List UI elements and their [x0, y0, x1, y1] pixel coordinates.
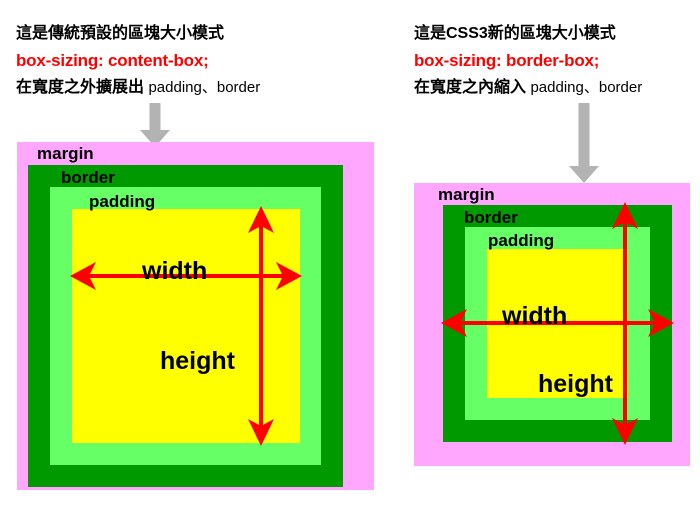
margin-label: margin — [37, 144, 94, 164]
caption-left-line-3-prefix: 在寬度之外擴展出 — [16, 79, 144, 96]
height-label: height — [160, 347, 235, 375]
margin-label: margin — [438, 185, 495, 205]
caption-border-box: 這是CSS3新的區塊大小模式 box-sizing: border-box; 在… — [414, 20, 642, 101]
caption-right-line-1: 這是CSS3新的區塊大小模式 — [414, 20, 642, 47]
width-label: width — [142, 257, 207, 285]
caption-right-line-3: 在寬度之內縮入 padding、border — [414, 74, 642, 101]
content-layer — [72, 209, 300, 443]
caption-left-line-1: 這是傳統預設的區塊大小模式 — [16, 20, 260, 47]
padding-label: padding — [89, 192, 155, 212]
caption-content-box: 這是傳統預設的區塊大小模式 box-sizing: content-box; 在… — [16, 20, 260, 101]
caption-left-line-3: 在寬度之外擴展出 padding、border — [16, 74, 260, 101]
caption-left-code: box-sizing: content-box; — [16, 47, 260, 74]
caption-right-line-3-mono: padding、border — [530, 79, 642, 96]
caption-right-line-3-prefix: 在寬度之內縮入 — [414, 79, 526, 96]
padding-label: padding — [488, 231, 554, 251]
box-model-diagram-border-box: margin border padding width height — [414, 183, 690, 466]
width-label: width — [502, 302, 567, 330]
arrow-down-icon-left — [140, 103, 170, 147]
border-label: border — [61, 168, 115, 188]
arrow-head — [569, 166, 599, 183]
border-label: border — [464, 208, 518, 228]
arrow-shaft — [150, 103, 161, 131]
arrow-shaft — [579, 103, 590, 167]
height-label: height — [538, 370, 613, 398]
caption-left-line-3-mono: padding、border — [148, 79, 260, 96]
box-model-diagram-content-box: margin border padding width height — [17, 142, 374, 490]
caption-right-code: box-sizing: border-box; — [414, 47, 642, 74]
arrow-down-icon-right — [569, 103, 599, 183]
